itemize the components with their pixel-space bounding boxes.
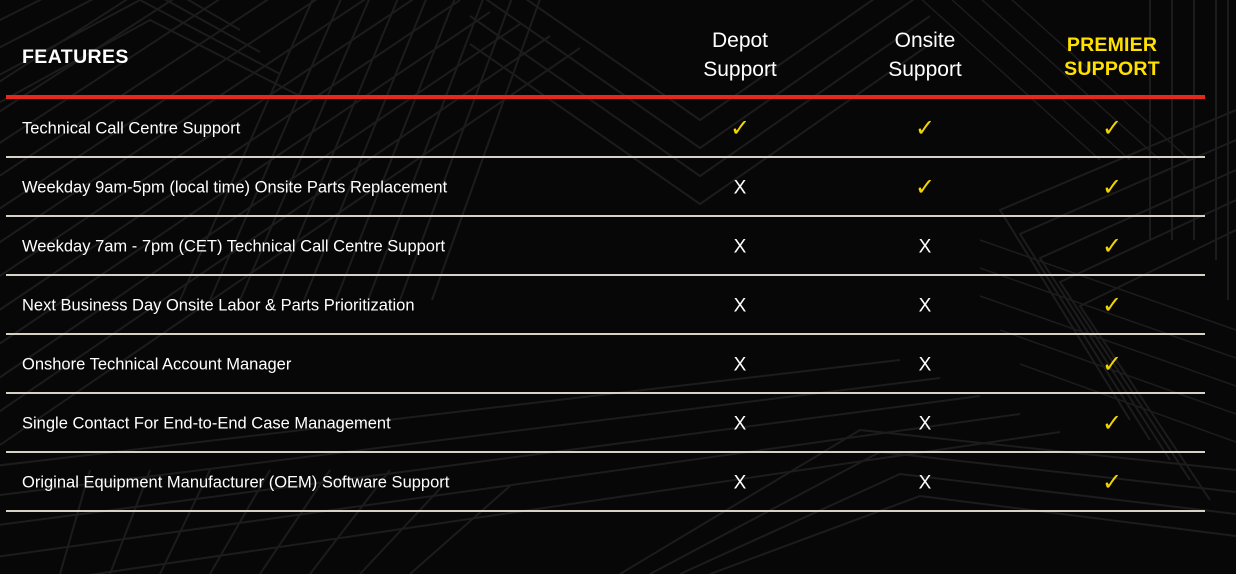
- feature-label: Weekday 7am - 7pm (CET) Technical Call C…: [22, 237, 445, 256]
- check-icon: ✓: [825, 117, 1025, 141]
- table-row: Weekday 7am - 7pm (CET) Technical Call C…: [0, 217, 1236, 276]
- check-icon: ✓: [1012, 471, 1212, 495]
- support-tier-comparison-table: FEATURES Depot Support Onsite Support PR…: [0, 0, 1236, 574]
- column-header-onsite-support: Onsite Support: [825, 26, 1025, 84]
- check-icon: ✓: [1012, 235, 1212, 259]
- cross-icon: X: [825, 296, 1025, 315]
- column-header-onsite-support-line1: Onsite: [825, 26, 1025, 55]
- table-row: Original Equipment Manufacturer (OEM) So…: [0, 453, 1236, 512]
- table-row: Technical Call Centre Support ✓ ✓ ✓: [0, 99, 1236, 158]
- cross-icon: X: [640, 355, 840, 374]
- feature-label: Weekday 9am-5pm (local time) Onsite Part…: [22, 178, 447, 197]
- column-header-premier-support-line2: SUPPORT: [1012, 57, 1212, 81]
- cross-icon: X: [640, 237, 840, 256]
- column-header-premier-support-line1: PREMIER: [1012, 33, 1212, 57]
- feature-label: Original Equipment Manufacturer (OEM) So…: [22, 473, 449, 492]
- table-row: Next Business Day Onsite Labor & Parts P…: [0, 276, 1236, 335]
- table-row: Single Contact For End-to-End Case Manag…: [0, 394, 1236, 453]
- table-row: Weekday 9am-5pm (local time) Onsite Part…: [0, 158, 1236, 217]
- feature-label: Technical Call Centre Support: [22, 119, 240, 138]
- feature-label: Onshore Technical Account Manager: [22, 355, 291, 374]
- feature-rows: Technical Call Centre Support ✓ ✓ ✓ Week…: [0, 99, 1236, 512]
- cross-icon: X: [825, 414, 1025, 433]
- table-header-row: FEATURES Depot Support Onsite Support PR…: [0, 0, 1236, 97]
- column-header-onsite-support-line2: Support: [825, 55, 1025, 84]
- check-icon: ✓: [1012, 117, 1212, 141]
- check-icon: ✓: [1012, 412, 1212, 436]
- cross-icon: X: [640, 414, 840, 433]
- cross-icon: X: [640, 178, 840, 197]
- check-icon: ✓: [1012, 176, 1212, 200]
- check-icon: ✓: [640, 117, 840, 141]
- table-row: Onshore Technical Account Manager X X ✓: [0, 335, 1236, 394]
- comparison-table: FEATURES Depot Support Onsite Support PR…: [0, 0, 1236, 574]
- cross-icon: X: [640, 473, 840, 492]
- cross-icon: X: [825, 237, 1025, 256]
- cross-icon: X: [825, 473, 1025, 492]
- feature-label: Single Contact For End-to-End Case Manag…: [22, 414, 391, 433]
- column-header-depot-support: Depot Support: [640, 26, 840, 84]
- check-icon: ✓: [1012, 294, 1212, 318]
- row-divider: [6, 510, 1205, 512]
- features-column-header: FEATURES: [22, 46, 129, 69]
- cross-icon: X: [640, 296, 840, 315]
- column-header-depot-support-line2: Support: [640, 55, 840, 84]
- feature-label: Next Business Day Onsite Labor & Parts P…: [22, 296, 415, 315]
- column-header-premier-support: PREMIER SUPPORT: [1012, 33, 1212, 81]
- check-icon: ✓: [1012, 353, 1212, 377]
- column-header-depot-support-line1: Depot: [640, 26, 840, 55]
- check-icon: ✓: [825, 176, 1025, 200]
- cross-icon: X: [825, 355, 1025, 374]
